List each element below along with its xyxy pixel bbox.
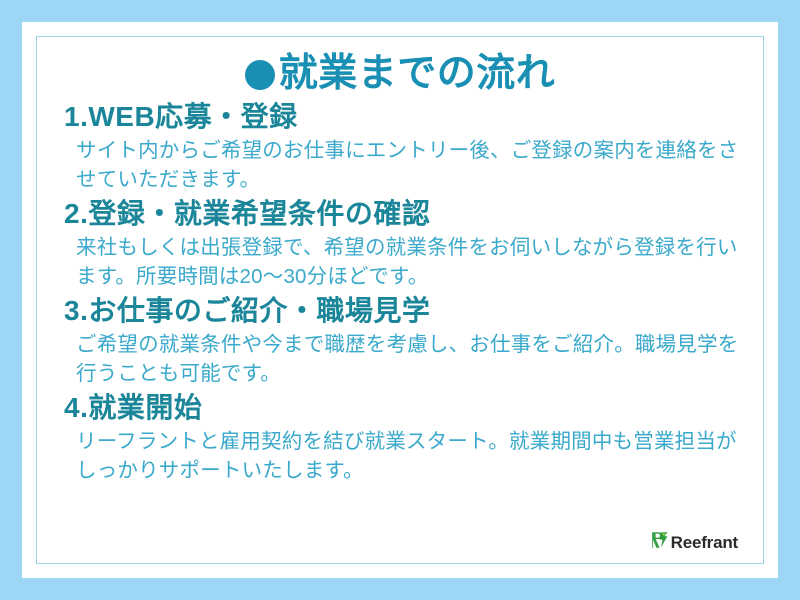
step-3-heading: 3.お仕事のご紹介・職場見学 (64, 293, 742, 329)
page-title: 就業までの流れ (58, 54, 742, 93)
white-card: 就業までの流れ 1.WEB応募・登録 サイト内からご希望のお仕事にエントリー後、… (22, 22, 778, 578)
step-item-1: 1.WEB応募・登録 サイト内からご希望のお仕事にエントリー後、ご登録の案内を連… (58, 99, 742, 194)
step-4-body: リーフラントと雇用契約を結び就業スタート。就業期間中も営業担当がしっかりサポート… (76, 427, 742, 485)
step-item-2: 2.登録・就業希望条件の確認 来社もしくは出張登録で、希望の就業条件をお伺いしな… (58, 196, 742, 291)
step-4-heading: 4.就業開始 (64, 390, 742, 426)
poster-root: 就業までの流れ 1.WEB応募・登録 サイト内からご希望のお仕事にエントリー後、… (0, 0, 800, 600)
reefrant-wordmark: Reefrant (671, 534, 738, 551)
step-item-3: 3.お仕事のご紹介・職場見学 ご希望の就業条件や今まで職歴を考慮し、お仕事をご紹… (58, 293, 742, 388)
step-2-heading: 2.登録・就業希望条件の確認 (64, 196, 742, 232)
step-2-body: 来社もしくは出張登録で、希望の就業条件をお伺いしながら登録を行います。所要時間は… (76, 233, 742, 291)
page-title-text: 就業までの流れ (279, 54, 556, 93)
step-1-heading: 1.WEB応募・登録 (64, 99, 742, 135)
reefrant-r-mark-icon (651, 531, 669, 554)
step-1-body: サイト内からご希望のお仕事にエントリー後、ご登録の案内を連絡をさせていただきます… (76, 136, 742, 194)
content-area: 就業までの流れ 1.WEB応募・登録 サイト内からご希望のお仕事にエントリー後、… (36, 36, 764, 564)
step-item-4: 4.就業開始 リーフラントと雇用契約を結び就業スタート。就業期間中も営業担当がし… (58, 390, 742, 485)
reefrant-logo: Reefrant (651, 531, 738, 554)
step-3-body: ご希望の就業条件や今まで職歴を考慮し、お仕事をご紹介。職場見学を行うことも可能で… (76, 330, 742, 388)
bullet-icon (245, 60, 275, 90)
